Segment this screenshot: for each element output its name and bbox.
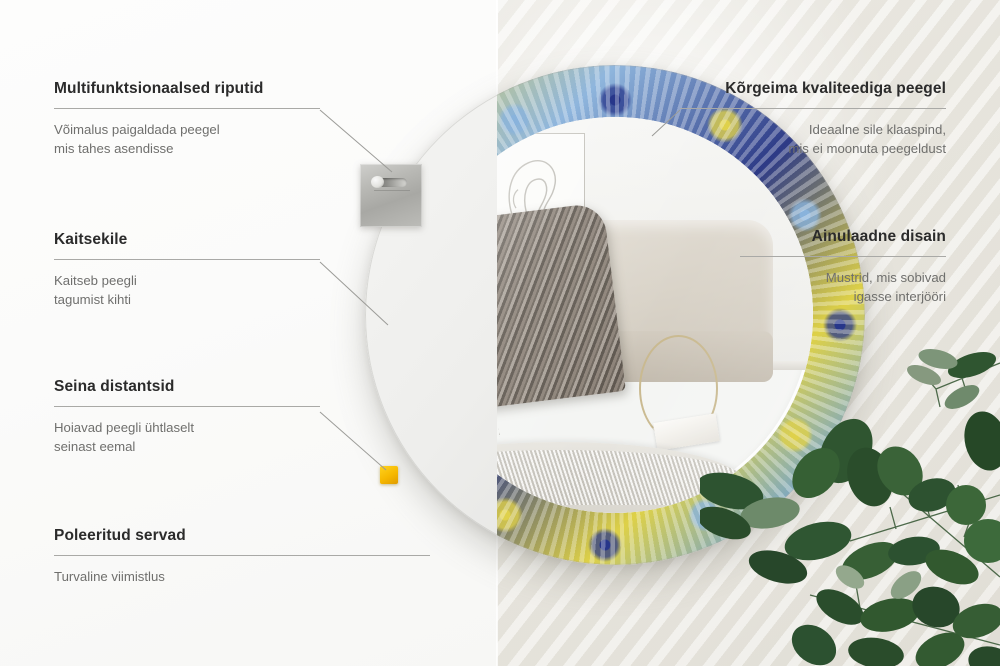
callout-title: Multifunktsionaalsed riputid xyxy=(54,80,320,99)
callout-rule xyxy=(680,108,946,109)
infographic-canvas: Multifunktsionaalsed riputid Võimalus pa… xyxy=(0,0,1000,666)
callout-title: Kõrgeima kvaliteediga peegel xyxy=(680,80,946,99)
callout-body: Kaitseb peegli tagumist kihti xyxy=(54,271,320,309)
callout-body: Võimalus paigaldada peegel mis tahes ase… xyxy=(54,120,320,158)
callout-ainulaadne-disain: Ainulaadne disain Mustrid, mis sobivad i… xyxy=(740,228,946,306)
keyhole-hanger-plate xyxy=(360,164,422,227)
callout-kaitsekile: Kaitsekile Kaitseb peegli tagumist kihti xyxy=(54,231,320,309)
callout-title: Poleeritud servad xyxy=(54,527,430,546)
callout-body: Hoiavad peegli ühtlaselt seinast eemal xyxy=(54,418,320,456)
callout-title: Kaitsekile xyxy=(54,231,320,250)
callout-multifunktsionaalsed-riputid: Multifunktsionaalsed riputid Võimalus pa… xyxy=(54,80,320,158)
callout-rule xyxy=(54,406,320,407)
hanger-keyhole xyxy=(371,176,384,188)
callout-rule xyxy=(54,259,320,260)
foliage-decoration xyxy=(700,345,1000,666)
callout-body: Turvaline viimistlus xyxy=(54,567,430,586)
callout-title: Seina distantsid xyxy=(54,378,320,397)
callout-rule xyxy=(54,555,430,556)
callout-poleeritud-servad: Poleeritud servad Turvaline viimistlus xyxy=(54,527,430,586)
hanger-groove xyxy=(374,190,410,191)
callout-rule xyxy=(54,108,320,109)
callout-body: Ideaalne sile klaaspind, mis ei moonuta … xyxy=(680,120,946,158)
wall-distance-spacer xyxy=(380,466,398,484)
callout-title: Ainulaadne disain xyxy=(740,228,946,247)
callout-rule xyxy=(740,256,946,257)
callout-body: Mustrid, mis sobivad igasse interjööri xyxy=(740,268,946,306)
callout-korgeima-kvaliteediga-peegel: Kõrgeima kvaliteediga peegel Ideaalne si… xyxy=(680,80,946,158)
callout-seina-distantsid: Seina distantsid Hoiavad peegli ühtlasel… xyxy=(54,378,320,456)
